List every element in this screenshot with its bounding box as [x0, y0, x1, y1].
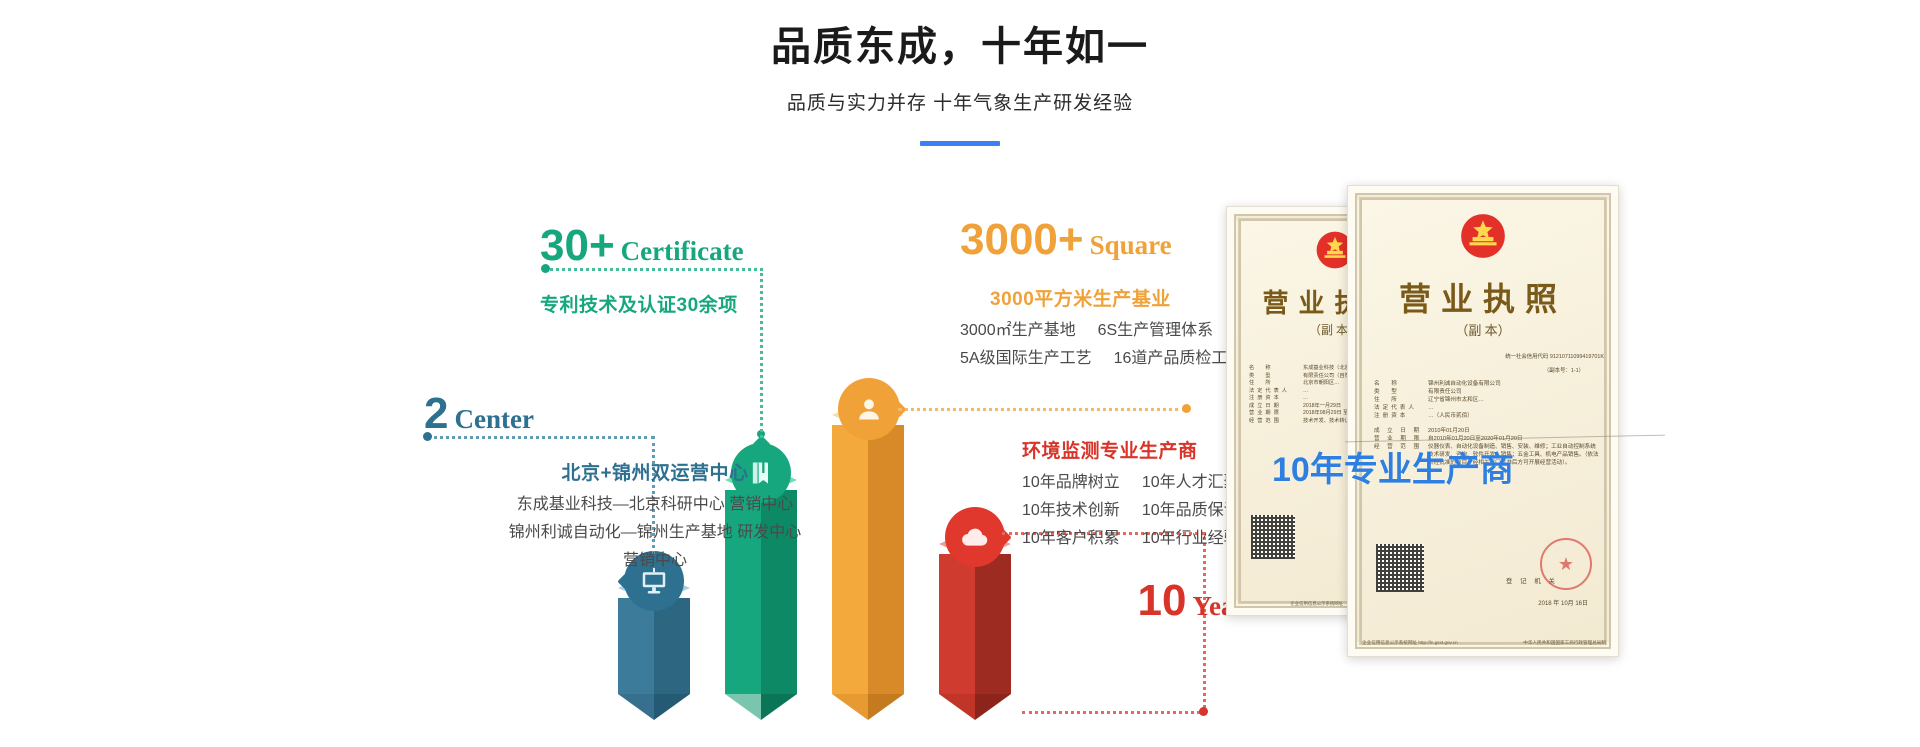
- certificate-front-footer-right: 中华人民共和国国家工商行政管理总局制: [1486, 640, 1606, 646]
- stat-center-detail-2: 锦州利诚自动化—锦州生产基地 研发中心: [420, 519, 890, 547]
- certificate-front-row: 法定代表人…: [1374, 404, 1600, 412]
- row-value: 2010年01月20日: [1428, 427, 1600, 435]
- bar-square-bottom-right: [868, 694, 904, 720]
- row-value: 有限责任公司: [1428, 388, 1600, 396]
- row-value: 锦州利诚自动化设备有限公司: [1428, 380, 1600, 388]
- bar-year-right-face: [975, 554, 1011, 694]
- stat-year-detail-1b: 10年人才汇聚: [1142, 469, 1240, 497]
- connector-year-bottom-horizontal: [1022, 711, 1206, 714]
- stat-certificate-heading: 30+Certificate: [540, 224, 870, 268]
- certificate-front[interactable]: 营业执照 （副 本） 统一社会信用代码 91210711099419701K （…: [1347, 185, 1619, 657]
- certificate-front-qr-code: [1376, 544, 1424, 592]
- stat-square-detail-1a: 3000㎡生产基地: [960, 317, 1076, 345]
- stat-center-detail-1: 东成基业科技—北京科研中心 营销中心: [420, 491, 890, 519]
- bar-year-bottom-left: [939, 694, 975, 720]
- stat-year-detail-3a: 10年客户积累: [1022, 525, 1120, 553]
- seal-star-icon: ★: [1558, 555, 1574, 573]
- stat-square-detail-2a: 5A级国际生产工艺: [960, 345, 1092, 373]
- page-subtitle: 品质与实力并存 十年气象生产研发经验: [0, 72, 1920, 115]
- row-label: 法定代表人: [1249, 388, 1303, 396]
- stat-year-number: 10: [1138, 579, 1187, 623]
- row-label: 类 型: [1374, 388, 1428, 396]
- row-label: 注册资本: [1374, 412, 1428, 420]
- row-value: 仪器仪表、自动化设备制造、销售、安装、维修；工业自动控制系统技术研发、咨询、软件…: [1428, 443, 1600, 467]
- row-label: 住 所: [1249, 380, 1303, 388]
- stat-center-detail-3: 营销中心: [420, 547, 890, 575]
- certificate-front-row: 注册资本…（人民币贰佰）: [1374, 412, 1600, 420]
- certificate-front-footer-left: 企业信用信息公示系统网址 http://ln.gsxt.gov.cn: [1362, 640, 1482, 646]
- certificate-front-title: 营业执照: [1348, 274, 1618, 320]
- certificate-front-row: 名 称锦州利诚自动化设备有限公司: [1374, 380, 1600, 388]
- row-label: 名 称: [1249, 365, 1303, 373]
- page-title: 品质东成，十年如一: [0, 0, 1920, 72]
- row-label: 法定代表人: [1374, 404, 1428, 412]
- certificate-front-row: 经 营 范 围仪器仪表、自动化设备制造、销售、安装、维修；工业自动控制系统技术研…: [1374, 443, 1600, 467]
- infographic-stage: 2Center 北京+锦州双运营中心 东成基业科技—北京科研中心 营销中心 锦州…: [0, 160, 1920, 720]
- row-label: 注册资本: [1249, 395, 1303, 403]
- stat-center-number: 2: [424, 392, 448, 436]
- certificate-front-registrar-date: 2018 年 10月 16日: [1538, 598, 1588, 607]
- infographic-page: 品质东成，十年如一 品质与实力并存 十年气象生产研发经验: [0, 0, 1920, 747]
- bar-certificate-bottom-left: [725, 694, 761, 720]
- stat-square-number: 3000+: [960, 218, 1084, 262]
- stat-square-detail-2b: 16道产品质检工序: [1114, 345, 1244, 373]
- bar-square-bottom-left: [832, 694, 868, 720]
- bar-year-left-face: [939, 554, 975, 694]
- stat-square-word: Square: [1090, 232, 1172, 259]
- stat-certificate-word: Certificate: [621, 238, 744, 265]
- row-label: 住 所: [1374, 396, 1428, 404]
- page-header: 品质东成，十年如一 品质与实力并存 十年气象生产研发经验: [0, 0, 1920, 146]
- certificate-front-row: 类 型有限责任公司: [1374, 388, 1600, 396]
- stat-year-detail-1a: 10年品牌树立: [1022, 469, 1120, 497]
- stat-center-word: Center: [454, 406, 533, 433]
- row-value: …: [1428, 404, 1600, 412]
- bar-center-bottom-right: [654, 694, 690, 720]
- stat-square-detail-1b: 6S生产管理体系: [1098, 317, 1214, 345]
- bar-center-left-face: [618, 598, 654, 694]
- row-value: 辽宁省锦州市太和区…: [1428, 396, 1600, 404]
- stat-year-detail-2b: 10年品质保证: [1142, 497, 1240, 525]
- row-label: 名 称: [1374, 380, 1428, 388]
- certificate-back-qr-code: [1251, 515, 1295, 559]
- certificate-front-row: 住 所辽宁省锦州市太和区…: [1374, 396, 1600, 404]
- certificate-front-subtitle: （副 本）: [1348, 320, 1618, 339]
- row-label: 经营范围: [1249, 418, 1303, 426]
- stat-year-detail-2a: 10年技术创新: [1022, 497, 1120, 525]
- row-label: 经 营 范 围: [1374, 443, 1428, 467]
- certificate-front-credit-code: 统一社会信用代码 91210711099419701K: [1505, 352, 1604, 360]
- row-label: 类 型: [1249, 373, 1303, 381]
- bar-certificate-bottom-right: [761, 694, 797, 720]
- row-label: 成 立 日 期: [1374, 427, 1428, 435]
- connector-year-dot: [1199, 707, 1208, 716]
- bar-center-right-face: [654, 598, 690, 694]
- certificate-front-row: 成 立 日 期2010年01月20日: [1374, 427, 1600, 435]
- stat-center-headline: 北京+锦州双运营中心: [420, 458, 890, 485]
- title-divider: [920, 141, 1000, 146]
- stat-block-certificate: 30+Certificate 专利技术及认证30余项: [540, 224, 870, 317]
- connector-square-dot: [1182, 404, 1191, 413]
- cloud-icon: [945, 507, 1005, 567]
- row-label: 营业期限: [1249, 410, 1303, 418]
- national-emblem-icon: [1458, 211, 1508, 261]
- row-value: …（人民币贰佰）: [1428, 412, 1600, 420]
- certificate-front-copy-number: （副本号：1-1）: [1544, 366, 1584, 374]
- stat-block-center: 2Center 北京+锦州双运营中心 东成基业科技—北京科研中心 营销中心 锦州…: [420, 392, 890, 575]
- stat-certificate-number: 30+: [540, 224, 615, 268]
- bar-center-bottom-left: [618, 694, 654, 720]
- bar-year-bottom-right: [975, 694, 1011, 720]
- official-seal-icon: ★: [1540, 538, 1592, 590]
- connector-square-horizontal: [898, 408, 1186, 411]
- certificate-front-rows: 名 称锦州利诚自动化设备有限公司 类 型有限责任公司 住 所辽宁省锦州市太和区……: [1374, 380, 1600, 467]
- stat-certificate-headline: 专利技术及认证30余项: [540, 290, 870, 317]
- stat-center-heading: 2Center: [420, 392, 890, 436]
- stat-year-detail-3b: 10年行业经验: [1142, 525, 1240, 553]
